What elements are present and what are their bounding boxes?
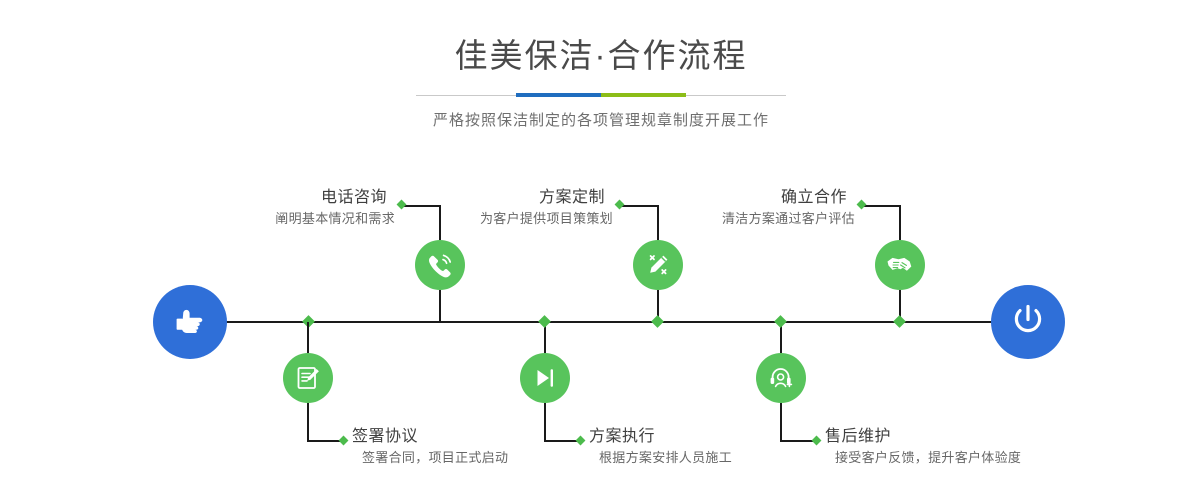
connector-stem-1b — [439, 290, 441, 322]
step-label-4: 方案执行 根据方案安排人员施工 — [589, 426, 819, 468]
step-label-1: 电话咨询 阐明基本情况和需求 — [180, 187, 395, 229]
step-title-6: 售后维护 — [825, 426, 1075, 448]
step-title-4: 方案执行 — [589, 426, 819, 448]
node-icon-circle-5[interactable] — [875, 240, 925, 290]
step-title-2: 签署协议 — [352, 426, 582, 448]
power-icon — [1007, 299, 1049, 346]
connector-stem-2a — [307, 322, 309, 353]
step-label-6: 售后维护 接受客户反馈，提升客户体验度 — [825, 426, 1075, 468]
step-label-5: 确立合作 清洁方案通过客户评估 — [640, 187, 855, 229]
axis-diamond-5 — [893, 315, 906, 328]
step-desc-1: 阐明基本情况和需求 — [180, 209, 395, 229]
label-diamond-2 — [339, 436, 349, 446]
node-icon-circle-6[interactable] — [756, 353, 806, 403]
timeline-axis — [160, 321, 1040, 323]
axis-diamond-3 — [651, 315, 664, 328]
connector-stem-2b — [307, 403, 309, 441]
label-diamond-5 — [857, 200, 867, 210]
connector-stem-4b — [544, 403, 546, 441]
step-title-3: 方案定制 — [398, 187, 613, 209]
pointing-hand-icon — [170, 300, 210, 345]
label-diamond-3 — [615, 200, 625, 210]
handshake-icon — [885, 250, 915, 280]
step-label-2: 签署协议 签署合同，项目正式启动 — [352, 426, 582, 468]
node-icon-circle-3[interactable] — [633, 240, 683, 290]
step-desc-6: 接受客户反馈，提升客户体验度 — [825, 448, 1075, 468]
axis-diamond-6 — [774, 315, 787, 328]
step-desc-5: 清洁方案通过客户评估 — [640, 209, 855, 229]
step-label-3: 方案定制 为客户提供项目策策划 — [398, 187, 613, 229]
node-icon-circle-2[interactable] — [283, 353, 333, 403]
step-desc-3: 为客户提供项目策策划 — [398, 209, 613, 229]
step-title-5: 确立合作 — [640, 187, 855, 209]
node-icon-circle-4[interactable] — [520, 353, 570, 403]
connector-stem-5a — [899, 205, 901, 240]
connector-stem-6b — [780, 403, 782, 441]
connector-arm-5 — [864, 205, 900, 207]
support-headset-icon — [767, 364, 795, 392]
play-execute-icon — [532, 365, 558, 391]
timeline: 电话咨询 阐明基本情况和需求 — [0, 0, 1202, 502]
timeline-end-endpoint[interactable] — [991, 285, 1065, 359]
axis-diamond-4 — [538, 315, 551, 328]
phone-call-icon — [426, 251, 454, 279]
timeline-start-endpoint[interactable] — [153, 285, 227, 359]
step-desc-4: 根据方案安排人员施工 — [589, 448, 819, 468]
node-icon-circle-1[interactable] — [415, 240, 465, 290]
step-desc-2: 签署合同，项目正式启动 — [352, 448, 582, 468]
sign-document-icon — [294, 364, 322, 392]
step-title-1: 电话咨询 — [180, 187, 395, 209]
cooperation-flow-infographic: 佳美保洁·合作流程 严格按照保洁制定的各项管理规章制度开展工作 — [0, 0, 1202, 502]
pencil-edit-icon — [644, 251, 672, 279]
